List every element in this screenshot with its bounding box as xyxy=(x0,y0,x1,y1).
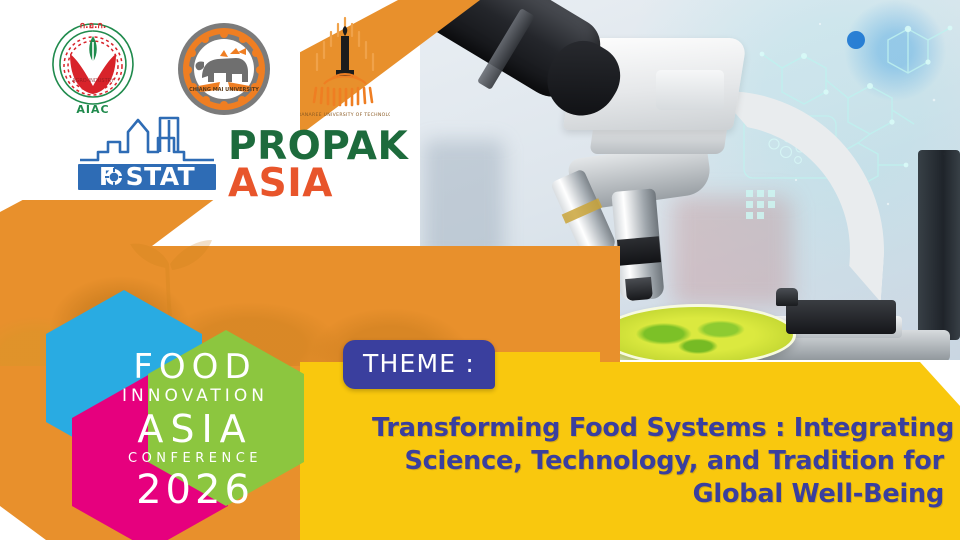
elephant-seal-ring-text: CHIANG MAI UNIVERSITY xyxy=(189,87,259,93)
logo-line-food: FOOD xyxy=(78,350,312,384)
microscope-stage-slide-holder xyxy=(786,300,896,334)
conference-banner: ก.อ.ก. AIAC AGRO-INDUSTRY xyxy=(0,0,960,540)
aiac-arc-text: AGRO-INDUSTRY xyxy=(72,78,115,84)
lab-cylinder xyxy=(918,150,960,340)
propak-wordmark: PROPAK xyxy=(228,128,398,165)
propak-asia-wordmark: ASIA xyxy=(228,165,398,202)
sut-arc-text: SURANAREE UNIVERSITY OF TECHNOLOGY xyxy=(300,112,390,118)
logo-line-year: 2026 xyxy=(78,470,312,510)
theme-line-2: Science, Technology, and Tradition for xyxy=(372,445,944,478)
theme-statement: Transforming Food Systems : Integrating … xyxy=(372,412,944,511)
petri-dish xyxy=(600,304,796,360)
propak-asia-logo: PROPAK ASIA xyxy=(228,128,398,192)
microscope-objective-tip xyxy=(625,277,653,301)
conference-logo-text: FOOD INNOVATION ASIA CONFERENCE 2026 xyxy=(78,350,312,520)
partner-logo-row: ก.อ.ก. AIAC AGRO-INDUSTRY xyxy=(24,8,404,118)
microscope-stage-knob xyxy=(776,288,798,306)
aiac-thai-abbr: ก.อ.ก. xyxy=(80,21,107,31)
theme-label-badge: THEME : xyxy=(343,340,495,389)
lab-background-blur-left xyxy=(424,140,504,260)
food-innovation-asia-conference-logo: FOOD INNOVATION ASIA CONFERENCE 2026 xyxy=(38,288,312,538)
theme-line-3: Global Well-Being xyxy=(372,478,944,511)
theme-line-1: Transforming Food Systems : Integrating xyxy=(372,412,944,445)
microscope-objective-band xyxy=(617,236,661,266)
logo-line-asia: ASIA xyxy=(78,410,312,448)
elephant-university-seal: CHIANG MAI UNIVERSITY xyxy=(174,20,274,118)
microscope-head-top xyxy=(656,70,724,110)
logo-line-innovation: INNOVATION xyxy=(78,384,312,410)
fostat-logo: F STAT xyxy=(74,112,220,196)
aiac-logo: ก.อ.ก. AIAC AGRO-INDUSTRY xyxy=(40,14,146,118)
suranaree-university-logo: SURANAREE UNIVERSITY OF TECHNOLOGY xyxy=(300,12,390,120)
